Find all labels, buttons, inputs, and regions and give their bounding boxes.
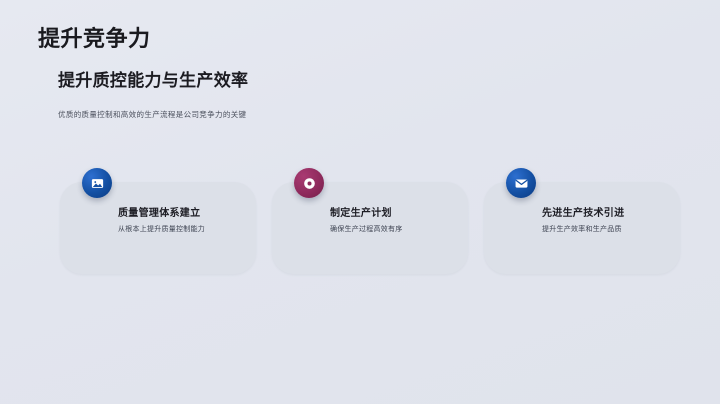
- section-heading: 提升质控能力与生产效率: [58, 70, 248, 91]
- feature-card[interactable]: 制定生产计划 确保生产过程高效有序: [272, 182, 468, 274]
- feature-card[interactable]: 质量管理体系建立 从根本上提升质量控制能力: [60, 182, 256, 274]
- card-title: 质量管理体系建立: [118, 208, 248, 220]
- card-text-block: 质量管理体系建立 从根本上提升质量控制能力: [118, 208, 248, 236]
- envelope-icon: [506, 168, 536, 198]
- card-description: 提升生产效率和生产品质: [542, 225, 638, 236]
- slide-canvas: 提升竞争力 提升质控能力与生产效率 优质的质量控制和高效的生产流程是公司竞争力的…: [0, 0, 720, 404]
- card-description: 确保生产过程高效有序: [330, 225, 426, 236]
- card-title: 先进生产技术引进: [542, 208, 672, 220]
- page-title: 提升竞争力: [38, 26, 151, 52]
- card-description: 从根本上提升质量控制能力: [118, 225, 214, 236]
- card-text-block: 先进生产技术引进 提升生产效率和生产品质: [542, 208, 672, 236]
- section-subtitle: 优质的质量控制和高效的生产流程是公司竞争力的关键: [58, 110, 246, 120]
- card-title: 制定生产计划: [330, 208, 460, 220]
- image-icon: [82, 168, 112, 198]
- feature-card-row: 质量管理体系建立 从根本上提升质量控制能力 制定生产计划 确保生产过程高效有序: [60, 182, 680, 274]
- card-text-block: 制定生产计划 确保生产过程高效有序: [330, 208, 460, 236]
- feature-card[interactable]: 先进生产技术引进 提升生产效率和生产品质: [484, 182, 680, 274]
- record-circle-icon: [294, 168, 324, 198]
